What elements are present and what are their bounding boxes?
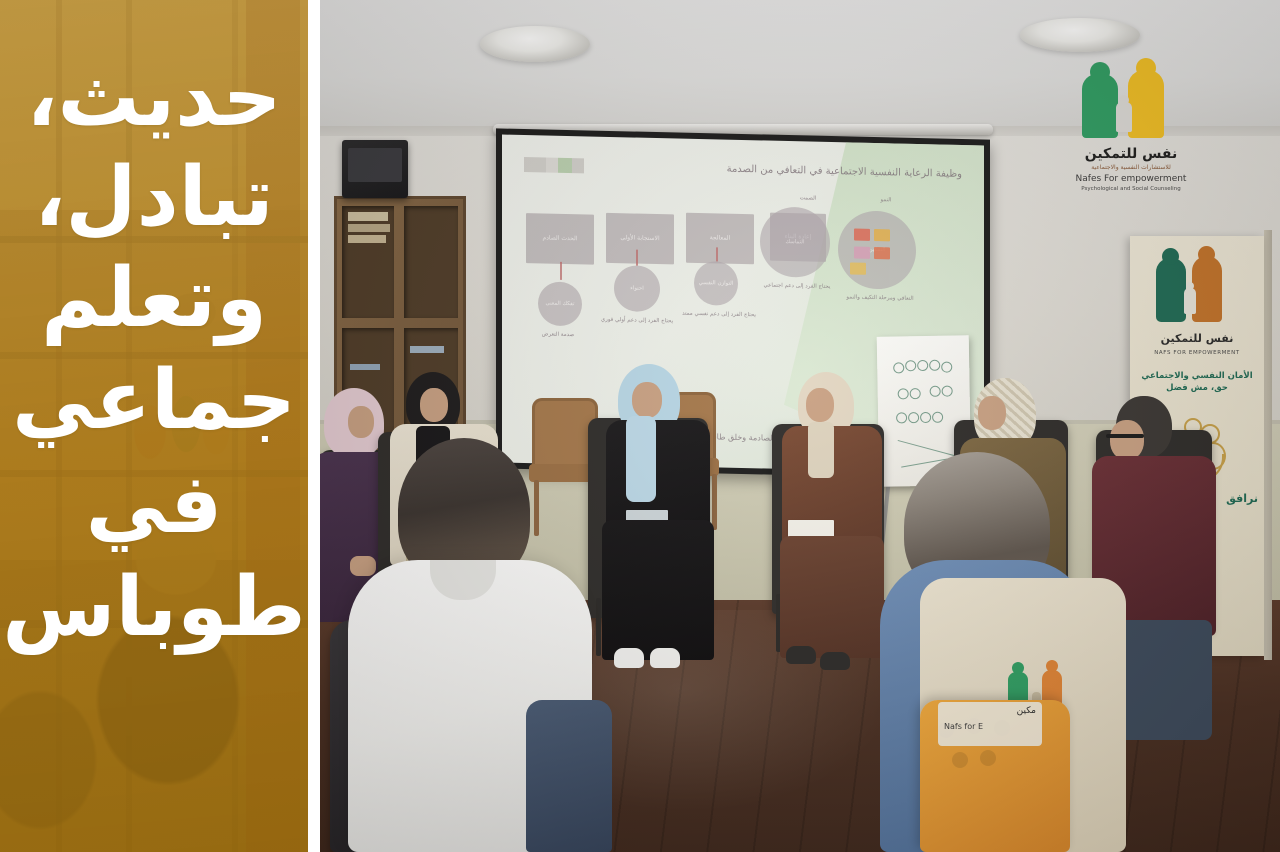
logo-figure-child-icon [1116, 102, 1132, 132]
banner-wall-edge [1264, 230, 1272, 660]
slide-caption: يحتاج الفرد إلى دعم أولي فوري [600, 317, 674, 326]
banner-bottom-word: نرافق [1226, 492, 1258, 505]
slide-tile [854, 247, 870, 259]
slide-card-label: الحدث الصادم [543, 235, 578, 243]
slide-card-label: المعالجة [710, 234, 731, 242]
banner-figure-child-icon [1184, 288, 1196, 314]
slide-card-label: الاستجابة الأولى [620, 234, 659, 242]
slide-card: المعالجة [686, 213, 754, 265]
headline-line-5: في [86, 465, 223, 545]
headline-line-3: وتعلم [41, 259, 267, 339]
headline-line-1: حديث، [26, 58, 281, 138]
slide-stage-label: الصمت [788, 195, 828, 203]
headline-line-6: طوباس [2, 568, 305, 648]
slide-logo-icon [524, 157, 584, 173]
slide-tile [874, 247, 890, 259]
slide-arrow-icon [716, 247, 718, 261]
slide-arrow-icon [636, 250, 638, 266]
wall-sign-english-subtitle: Psychological and Social Counseling [1036, 186, 1226, 192]
logo-figure-green-head-icon [1090, 62, 1110, 82]
slide-circle-label: التوازن النفسي [699, 280, 734, 287]
slide-tile [854, 229, 870, 241]
slide-caption: يحتاج الفرد إلى دعم نفسي ممتد [682, 311, 756, 320]
logo-figure-child-head-icon [1119, 95, 1129, 105]
wall-sign-english-title: Nafes For empowerment [1036, 174, 1226, 184]
vest-logo-arabic-fragment: مكين [944, 706, 1036, 716]
slide-caption: يحتاج الفرد إلى دعم اجتماعي [760, 282, 834, 291]
slide-tile [874, 229, 890, 241]
logo-figure-yellow-head-icon [1136, 58, 1156, 78]
banner-english-title: NAFS FOR EMPOWERMENT [1130, 350, 1264, 356]
nafs-wall-sign: نفس للتمكين للاستشارات النفسية والاجتماع… [1036, 54, 1226, 186]
slide-arrow-icon [560, 262, 562, 280]
slide-card: الحدث الصادم [526, 213, 594, 265]
book [348, 224, 390, 232]
slide-tile [850, 262, 866, 274]
banner-figure-child-head-icon [1186, 282, 1194, 290]
logo-figure-yellow-icon [1128, 70, 1164, 138]
slide-circle: تفكك المعنى [538, 281, 582, 326]
banner-figure-orange-head-icon [1198, 246, 1215, 263]
banner-figure-orange-icon [1192, 256, 1222, 322]
headline-line-4: جماعي [12, 361, 296, 441]
poster-root: حديث، تبادل، وتعلم جماعي في طوباس [0, 0, 1280, 852]
group-session-photograph: وظيفة الرعاية النفسية الاجتماعية في التع… [320, 0, 1280, 852]
book [348, 235, 386, 243]
wall-sign-arabic-subtitle: للاستشارات النفسية والاجتماعية [1036, 164, 1226, 171]
wall-sign-arabic-title: نفس للتمكين [1036, 146, 1226, 162]
slide-caption: صدمة التعرض [526, 331, 590, 340]
slide-circle-label: احتواء [630, 285, 644, 292]
slide-circle-label: تفكك المعنى [545, 300, 574, 307]
slide-circle: التماسك [760, 206, 830, 278]
banner-slogan: الأمان النفسي والاجتماعي حق، مش فضل [1136, 370, 1258, 395]
ceiling-light-icon [1020, 18, 1140, 52]
vest-logo-green-head-icon [1012, 662, 1024, 674]
slide-circle: احتواء [614, 265, 660, 312]
slide-circle: التوازن النفسي [694, 261, 738, 306]
book [410, 346, 444, 353]
panel-divider [308, 0, 320, 852]
logo-figure-green-icon [1082, 74, 1118, 138]
book [350, 364, 380, 370]
headline-panel: حديث، تبادل، وتعلم جماعي في طوباس [0, 0, 308, 852]
slide-stage-label: النمو [866, 197, 906, 205]
headline-text-block: حديث، تبادل، وتعلم جماعي في طوباس [0, 0, 308, 852]
headline-line-2: تبادل، [34, 158, 273, 238]
monitor-icon [342, 140, 408, 198]
vest-logo-orange-head-icon [1046, 660, 1058, 672]
banner-arabic-title: نفس للتمكين [1130, 332, 1264, 345]
slide-card: الاستجابة الأولى [606, 213, 674, 265]
ceiling-light-icon [480, 26, 590, 62]
banner-figure-green-head-icon [1162, 248, 1179, 265]
slide-circle-label: التماسك [786, 239, 805, 246]
banner-figure-green-icon [1156, 258, 1186, 322]
vest-logo-english-fragment: Nafs for E [944, 722, 1036, 731]
book [348, 212, 388, 221]
